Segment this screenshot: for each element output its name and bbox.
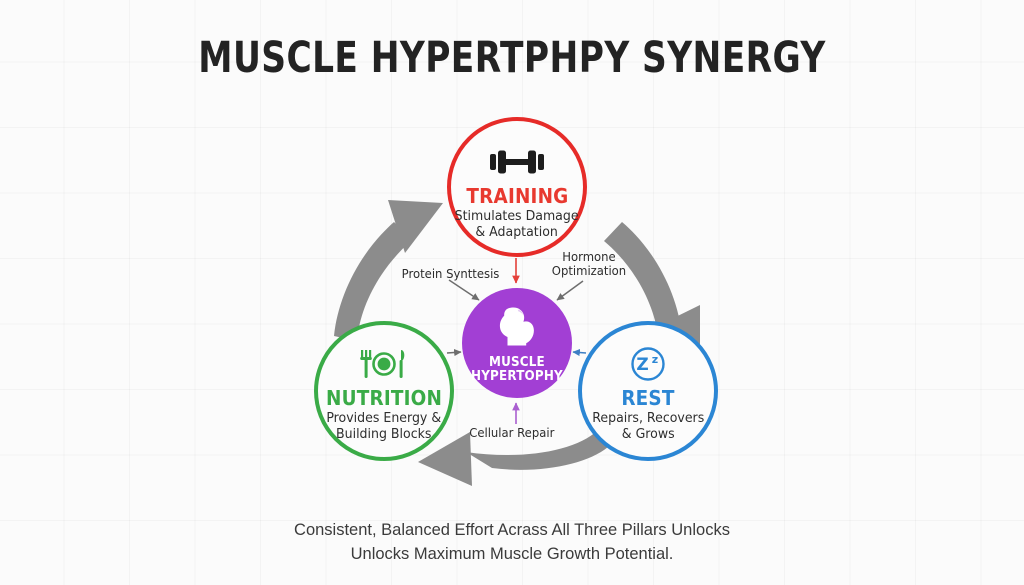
connector-hormone-optimization [557, 281, 583, 300]
center-hub-label-line1: MUSCLE [471, 356, 563, 370]
pillar-training-desc-line2: & Adaptation [455, 225, 579, 241]
fork-plate-knife-icon [357, 347, 411, 381]
caption-line2: Unlocks Maximum Muscle Growth Potential. [0, 542, 1024, 566]
caption: Consistent, Balanced Effort Acrass All T… [0, 518, 1024, 566]
pillar-rest[interactable]: Z z REST Repairs, Recovers & Grows [578, 321, 718, 461]
flow-label-protein-synthesis-line1: Protein Synttesis [402, 267, 500, 281]
flow-label-hormone-optimization-line1: Hormone [552, 250, 626, 264]
flow-label-hormone-optimization: Hormone Optimization [552, 250, 626, 278]
svg-text:z: z [652, 353, 658, 366]
pillar-training-desc-line1: Stimulates Damage [455, 209, 579, 225]
synergy-diagram: TRAINING Stimulates Damage & Adaptation [0, 0, 1024, 585]
pillar-rest-name: REST [621, 386, 674, 410]
pillar-nutrition-name: NUTRITION [326, 386, 442, 410]
pillar-training[interactable]: TRAINING Stimulates Damage & Adaptation [447, 117, 587, 257]
pillar-nutrition-desc: Provides Energy & Building Blocks [327, 411, 442, 442]
pillar-rest-desc: Repairs, Recovers & Grows [592, 411, 704, 442]
connector-rest-to-center [573, 352, 586, 353]
pillar-nutrition-desc-line2: Building Blocks [327, 427, 442, 443]
sleep-zz-icon: Z z [628, 347, 668, 381]
connector-protein-synthesis [449, 280, 479, 300]
flexed-bicep-icon [492, 304, 542, 353]
center-hub-muscle-hypertophy[interactable]: MUSCLE HYPERTOPHY [462, 288, 572, 398]
flow-label-cellular-repair: Cellular Repair [469, 426, 554, 440]
pillar-training-desc: Stimulates Damage & Adaptation [455, 209, 579, 240]
flow-label-protein-synthesis: Protein Synttesis [402, 267, 500, 281]
pillar-rest-desc-line1: Repairs, Recovers [592, 411, 704, 427]
caption-line1: Consistent, Balanced Effort Acrass All T… [0, 518, 1024, 542]
connector-nutrition-to-center [447, 352, 461, 353]
infographic-canvas: MUSCLE HYPERTPHPY SYNERGY [0, 0, 1024, 585]
flow-label-hormone-optimization-line2: Optimization [552, 264, 626, 278]
dumbbell-icon [488, 145, 546, 179]
center-hub-label-line2: HYPERTOPHY [471, 370, 563, 384]
svg-text:Z: Z [636, 355, 648, 375]
pillar-nutrition[interactable]: NUTRITION Provides Energy & Building Blo… [314, 321, 454, 461]
pillar-rest-desc-line2: & Grows [592, 427, 704, 443]
pillar-nutrition-desc-line1: Provides Energy & [327, 411, 442, 427]
center-hub-label: MUSCLE HYPERTOPHY [471, 356, 563, 384]
flow-label-cellular-repair-line1: Cellular Repair [469, 426, 554, 440]
pillar-training-name: TRAINING [466, 184, 568, 208]
